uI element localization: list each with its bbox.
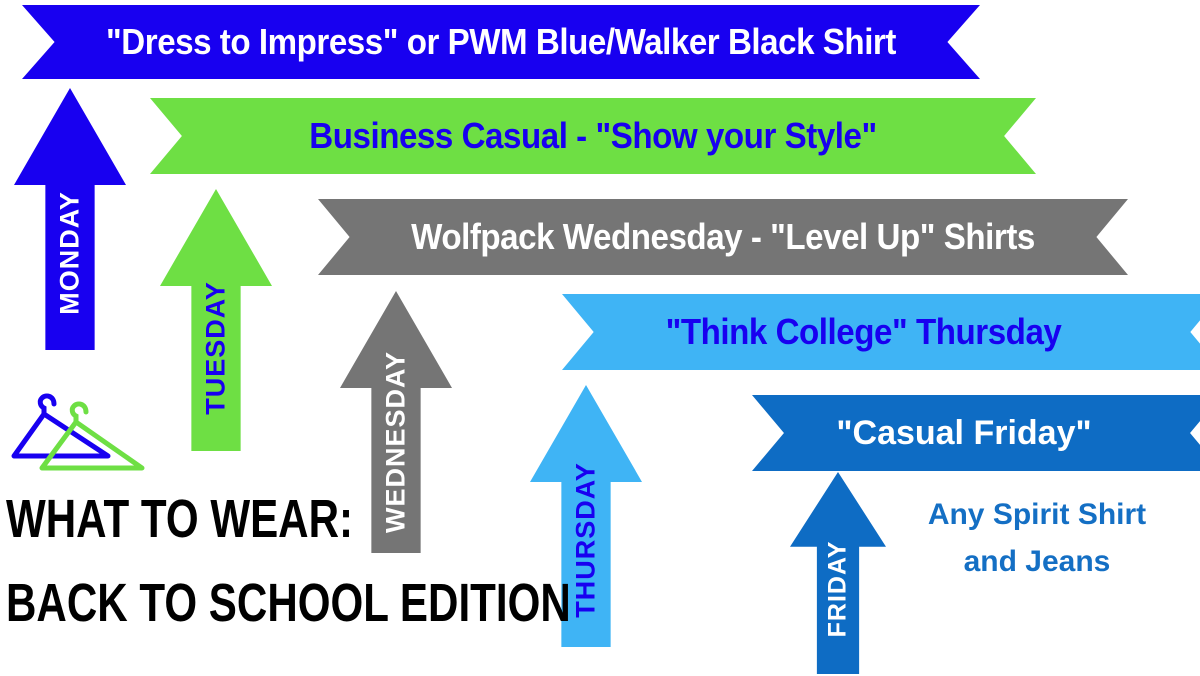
arrow-friday-label: FRIDAY [824, 541, 853, 638]
banner-monday: "Dress to Impress" or PWM Blue/Walker Bl… [22, 5, 980, 79]
friday-note-line-1: Any Spirit Shirt [892, 492, 1182, 539]
banner-friday-text: "Casual Friday" [752, 414, 1200, 453]
banner-wednesday: Wolfpack Wednesday - "Level Up" Shirts [318, 199, 1128, 275]
banner-tuesday-text: Business Casual - "Show your Style" [185, 115, 1000, 157]
page-title-line-2: BACK TO SCHOOL EDITION [6, 576, 427, 630]
arrow-monday-label: MONDAY [55, 191, 86, 315]
banner-thursday-text: "Think College" Thursday [588, 311, 1195, 353]
friday-note-line-2: and Jeans [892, 539, 1182, 586]
friday-dress-note: Any Spirit Shirt and Jeans [892, 492, 1182, 585]
banner-friday: "Casual Friday" [752, 395, 1200, 471]
banner-thursday: "Think College" Thursday [562, 294, 1200, 370]
arrow-friday: FRIDAY [790, 472, 886, 674]
page-title-line-1: WHAT TO WEAR: [6, 492, 427, 546]
clothes-hanger-icon [6, 388, 166, 482]
arrow-thursday-label: THURSDAY [571, 462, 602, 618]
infographic-canvas: "Dress to Impress" or PWM Blue/Walker Bl… [0, 0, 1200, 676]
banner-wednesday-text: Wolfpack Wednesday - "Level Up" Shirts [350, 216, 1095, 258]
banner-monday-text: "Dress to Impress" or PWM Blue/Walker Bl… [60, 21, 941, 63]
banner-tuesday: Business Casual - "Show your Style" [150, 98, 1036, 174]
arrow-monday: MONDAY [14, 88, 126, 350]
arrow-tuesday-label: TUESDAY [201, 281, 232, 415]
page-title: WHAT TO WEAR: BACK TO SCHOOL EDITION [6, 492, 546, 630]
arrow-tuesday: TUESDAY [160, 189, 272, 451]
